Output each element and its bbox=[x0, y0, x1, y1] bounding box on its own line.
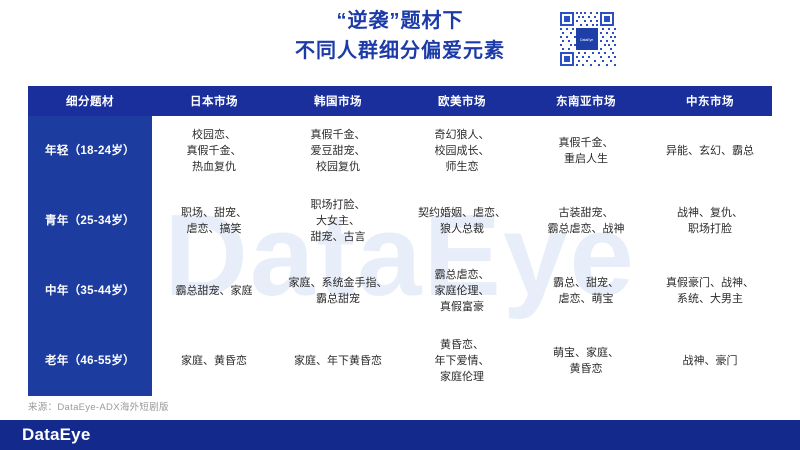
cell-lines: 真假千金、 重启人生 bbox=[530, 135, 642, 167]
cell-lines: 职场、甜宠、 虐恋、搞笑 bbox=[158, 205, 270, 237]
cell-line: 师生恋 bbox=[406, 159, 518, 175]
cell-line: 真假豪门、战神、 bbox=[654, 275, 766, 291]
cell-line: 爱豆甜宠、 bbox=[282, 143, 394, 159]
column-header-middle-east: 中东市场 bbox=[648, 86, 772, 116]
cell-korea: 真假千金、 爱豆甜宠、 校园复仇 bbox=[276, 116, 400, 186]
cell-middle-east: 战神、豪门 bbox=[648, 326, 772, 396]
cell-southeast-asia: 霸总、甜宠、 虐恋、萌宝 bbox=[524, 256, 648, 326]
cell-line: 大女主、 bbox=[282, 213, 394, 229]
cell-lines: 战神、豪门 bbox=[654, 353, 766, 369]
cell-line: 霸总甜宠 bbox=[282, 291, 394, 307]
cell-line: 霸总虐恋、战神 bbox=[530, 221, 642, 237]
cell-japan: 霸总甜宠、家庭 bbox=[152, 256, 276, 326]
cell-lines: 校园恋、 真假千金、 热血复仇 bbox=[158, 127, 270, 175]
segment-label: 年轻（18-24岁） bbox=[28, 116, 152, 186]
cell-line: 系统、大男主 bbox=[654, 291, 766, 307]
qr-code[interactable]: DataEye bbox=[556, 8, 618, 70]
cell-line: 年下爱情、 bbox=[406, 353, 518, 369]
cell-line: 热血复仇 bbox=[158, 159, 270, 175]
segment-label: 老年（46-55岁） bbox=[28, 326, 152, 396]
cell-line: 重启人生 bbox=[530, 151, 642, 167]
slide-header: “逆袭”题材下 不同人群细分偏爱元素 bbox=[0, 0, 800, 78]
preference-table-container: DataEye 细分题材 日本市场 韩国市场 欧美市场 东南亚市场 中东市场 年… bbox=[28, 86, 772, 396]
cell-lines: 真假豪门、战神、 系统、大男主 bbox=[654, 275, 766, 307]
cell-japan: 校园恋、 真假千金、 热血复仇 bbox=[152, 116, 276, 186]
cell-line: 真假千金、 bbox=[158, 143, 270, 159]
cell-middle-east: 战神、复仇、 职场打脸 bbox=[648, 186, 772, 256]
cell-line: 真假千金、 bbox=[282, 127, 394, 143]
cell-line: 虐恋、萌宝 bbox=[530, 291, 642, 307]
cell-line: 黄昏恋 bbox=[530, 361, 642, 377]
cell-middle-east: 真假豪门、战神、 系统、大男主 bbox=[648, 256, 772, 326]
cell-southeast-asia: 古装甜宠、 霸总虐恋、战神 bbox=[524, 186, 648, 256]
cell-middle-east: 异能、玄幻、霸总 bbox=[648, 116, 772, 186]
cell-line: 校园复仇 bbox=[282, 159, 394, 175]
cell-korea: 家庭、系统金手指、 霸总甜宠 bbox=[276, 256, 400, 326]
segment-label: 青年（25-34岁） bbox=[28, 186, 152, 256]
cell-line: 契约婚姻、虐恋、 bbox=[406, 205, 518, 221]
cell-line: 霸总虐恋、 bbox=[406, 267, 518, 283]
cell-lines: 萌宝、家庭、 黄昏恋 bbox=[530, 345, 642, 377]
cell-line: 萌宝、家庭、 bbox=[530, 345, 642, 361]
cell-line: 校园成长、 bbox=[406, 143, 518, 159]
cell-europe-us: 黄昏恋、 年下爱情、 家庭伦理 bbox=[400, 326, 524, 396]
cell-lines: 霸总虐恋、 家庭伦理、 真假富豪 bbox=[406, 267, 518, 315]
segment-label: 中年（35-44岁） bbox=[28, 256, 152, 326]
cell-line: 家庭伦理、 bbox=[406, 283, 518, 299]
page-title-line-2: 不同人群细分偏爱元素 bbox=[0, 36, 800, 66]
cell-line: 战神、复仇、 bbox=[654, 205, 766, 221]
cell-line: 霸总甜宠、家庭 bbox=[158, 283, 270, 299]
cell-korea: 职场打脸、 大女主、 甜宠、古言 bbox=[276, 186, 400, 256]
cell-line: 家庭、年下黄昏恋 bbox=[282, 353, 394, 369]
cell-lines: 职场打脸、 大女主、 甜宠、古言 bbox=[282, 197, 394, 245]
cell-line: 奇幻狼人、 bbox=[406, 127, 518, 143]
cell-lines: 黄昏恋、 年下爱情、 家庭伦理 bbox=[406, 337, 518, 385]
cell-line: 家庭、黄昏恋 bbox=[158, 353, 270, 369]
brand-logo: DataEye bbox=[22, 425, 91, 445]
cell-lines: 奇幻狼人、 校园成长、 师生恋 bbox=[406, 127, 518, 175]
column-header-korea: 韩国市场 bbox=[276, 86, 400, 116]
cell-line: 校园恋、 bbox=[158, 127, 270, 143]
page-title: “逆袭”题材下 不同人群细分偏爱元素 bbox=[0, 6, 800, 66]
source-note: 来源：DataEye-ADX海外短剧版 bbox=[28, 399, 169, 413]
cell-line: 虐恋、搞笑 bbox=[158, 221, 270, 237]
cell-lines: 家庭、年下黄昏恋 bbox=[282, 353, 394, 369]
cell-line: 职场打脸、 bbox=[282, 197, 394, 213]
cell-line: 真假富豪 bbox=[406, 299, 518, 315]
cell-lines: 霸总、甜宠、 虐恋、萌宝 bbox=[530, 275, 642, 307]
table-header-row: 细分题材 日本市场 韩国市场 欧美市场 东南亚市场 中东市场 bbox=[28, 86, 772, 116]
cell-line: 战神、豪门 bbox=[654, 353, 766, 369]
cell-line: 职场打脸 bbox=[654, 221, 766, 237]
column-header-southeast-asia: 东南亚市场 bbox=[524, 86, 648, 116]
table-row: 中年（35-44岁） 霸总甜宠、家庭 家庭、系统金手指、 霸总甜宠 霸总虐恋、 … bbox=[28, 256, 772, 326]
cell-lines: 真假千金、 爱豆甜宠、 校园复仇 bbox=[282, 127, 394, 175]
cell-lines: 家庭、黄昏恋 bbox=[158, 353, 270, 369]
cell-line: 古装甜宠、 bbox=[530, 205, 642, 221]
cell-lines: 契约婚姻、虐恋、 狼人总裁 bbox=[406, 205, 518, 237]
cell-lines: 异能、玄幻、霸总 bbox=[654, 143, 766, 159]
qr-center-label: DataEye bbox=[580, 37, 593, 41]
cell-line: 职场、甜宠、 bbox=[158, 205, 270, 221]
column-header-segment: 细分题材 bbox=[28, 86, 152, 116]
cell-japan: 职场、甜宠、 虐恋、搞笑 bbox=[152, 186, 276, 256]
cell-lines: 古装甜宠、 霸总虐恋、战神 bbox=[530, 205, 642, 237]
cell-line: 真假千金、 bbox=[530, 135, 642, 151]
qr-center-logo: DataEye bbox=[576, 28, 598, 50]
cell-line: 霸总、甜宠、 bbox=[530, 275, 642, 291]
cell-korea: 家庭、年下黄昏恋 bbox=[276, 326, 400, 396]
cell-lines: 家庭、系统金手指、 霸总甜宠 bbox=[282, 275, 394, 307]
page-title-line-1: “逆袭”题材下 bbox=[0, 6, 800, 36]
cell-japan: 家庭、黄昏恋 bbox=[152, 326, 276, 396]
table-row: 老年（46-55岁） 家庭、黄昏恋 家庭、年下黄昏恋 黄昏恋、 年下爱情、 家庭… bbox=[28, 326, 772, 396]
column-header-japan: 日本市场 bbox=[152, 86, 276, 116]
cell-europe-us: 霸总虐恋、 家庭伦理、 真假富豪 bbox=[400, 256, 524, 326]
cell-europe-us: 契约婚姻、虐恋、 狼人总裁 bbox=[400, 186, 524, 256]
preference-table: 细分题材 日本市场 韩国市场 欧美市场 东南亚市场 中东市场 年轻（18-24岁… bbox=[28, 86, 772, 396]
cell-southeast-asia: 真假千金、 重启人生 bbox=[524, 116, 648, 186]
column-header-europe-us: 欧美市场 bbox=[400, 86, 524, 116]
cell-line: 黄昏恋、 bbox=[406, 337, 518, 353]
cell-europe-us: 奇幻狼人、 校园成长、 师生恋 bbox=[400, 116, 524, 186]
table-body: 年轻（18-24岁） 校园恋、 真假千金、 热血复仇 真假千金、 爱豆甜宠、 校… bbox=[28, 116, 772, 396]
cell-line: 甜宠、古言 bbox=[282, 229, 394, 245]
table-row: 年轻（18-24岁） 校园恋、 真假千金、 热血复仇 真假千金、 爱豆甜宠、 校… bbox=[28, 116, 772, 186]
footer-bar: DataEye bbox=[0, 420, 800, 450]
table-row: 青年（25-34岁） 职场、甜宠、 虐恋、搞笑 职场打脸、 大女主、 甜宠、古言… bbox=[28, 186, 772, 256]
cell-lines: 霸总甜宠、家庭 bbox=[158, 283, 270, 299]
cell-line: 家庭伦理 bbox=[406, 369, 518, 385]
cell-line: 家庭、系统金手指、 bbox=[282, 275, 394, 291]
cell-line: 异能、玄幻、霸总 bbox=[654, 143, 766, 159]
cell-line: 狼人总裁 bbox=[406, 221, 518, 237]
cell-southeast-asia: 萌宝、家庭、 黄昏恋 bbox=[524, 326, 648, 396]
cell-lines: 战神、复仇、 职场打脸 bbox=[654, 205, 766, 237]
